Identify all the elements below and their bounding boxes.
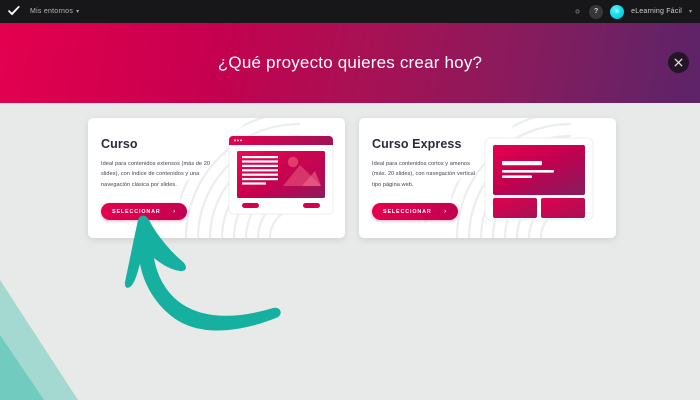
- user-avatar-globe-icon: ✷: [610, 5, 624, 19]
- chevron-down-icon: ▾: [76, 8, 79, 15]
- app-root: Mis entornos ▾ ? ✷ eLearning Fácil ▾ ¿Qu…: [0, 0, 700, 400]
- bell-dot-icon[interactable]: [573, 7, 582, 16]
- card-title: Curso Express: [372, 137, 462, 151]
- top-bar: Mis entornos ▾ ? ✷ eLearning Fácil ▾: [0, 0, 700, 23]
- avatar[interactable]: ✷: [610, 5, 624, 19]
- card-curso-express[interactable]: Curso Express Ideal para contenidos cort…: [359, 118, 616, 238]
- help-button[interactable]: ?: [589, 5, 603, 19]
- project-type-cards: Curso Ideal para contenidos extensos (má…: [0, 118, 700, 238]
- user-name[interactable]: eLearning Fácil: [631, 8, 682, 15]
- select-button-label: SELECCIONAR: [112, 209, 161, 215]
- slide-deck-preview-icon: [226, 132, 336, 224]
- hero-band: ¿Qué proyecto quieres crear hoy?: [0, 23, 700, 103]
- environment-label: Mis entornos: [30, 8, 73, 15]
- card-description: Ideal para contenidos extensos (más de 2…: [101, 159, 211, 190]
- environment-selector[interactable]: Mis entornos ▾: [30, 8, 79, 15]
- card-curso[interactable]: Curso Ideal para contenidos extensos (má…: [88, 118, 345, 238]
- page-title: ¿Qué proyecto quieres crear hoy?: [0, 23, 700, 103]
- diagonal-stripes-decoration: [0, 280, 160, 400]
- chevron-down-icon[interactable]: ▾: [689, 8, 692, 15]
- card-title: Curso: [101, 137, 138, 151]
- select-button-label: SELECCIONAR: [383, 209, 432, 215]
- chevron-right-icon: ›: [444, 209, 447, 215]
- select-button-curso[interactable]: SELECCIONAR ›: [101, 203, 187, 220]
- close-icon[interactable]: [668, 52, 689, 73]
- webpage-scroll-preview-icon: [481, 132, 601, 232]
- topbar-actions: ? ✷ eLearning Fácil ▾: [573, 5, 700, 19]
- chevron-right-icon: ›: [173, 209, 176, 215]
- check-logo-icon[interactable]: [0, 6, 28, 17]
- select-button-curso-express[interactable]: SELECCIONAR ›: [372, 203, 458, 220]
- card-description: Ideal para contenidos cortos y amenos (m…: [372, 159, 482, 190]
